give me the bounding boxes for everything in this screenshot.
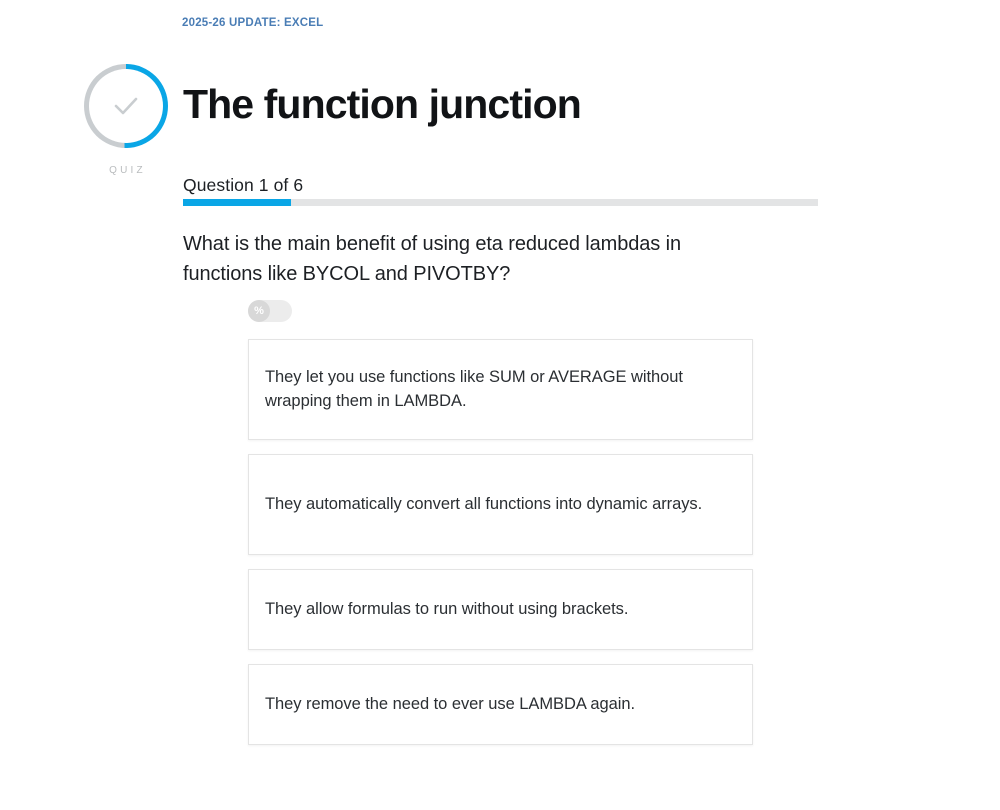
answer-option-label: They automatically convert all functions… — [265, 493, 702, 516]
answer-option-label: They allow formulas to run without using… — [265, 598, 628, 621]
answer-options: They let you use functions like SUM or A… — [248, 339, 753, 759]
page-title: The function junction — [183, 82, 581, 127]
percent-icon: % — [248, 300, 270, 322]
kicker-label: 2025-26 UPDATE: EXCEL — [182, 17, 323, 29]
answer-option-label: They remove the need to ever use LAMBDA … — [265, 693, 635, 716]
quiz-progress-ring — [84, 64, 168, 148]
percent-toggle[interactable]: % — [248, 300, 292, 322]
progress-bar — [183, 199, 818, 206]
answer-option[interactable]: They remove the need to ever use LAMBDA … — [248, 664, 753, 745]
answer-option-label: They let you use functions like SUM or A… — [265, 366, 736, 413]
progress-bar-fill — [183, 199, 291, 206]
question-text: What is the main benefit of using eta re… — [183, 230, 763, 289]
quiz-badge: QUIZ — [84, 64, 168, 176]
answer-option[interactable]: They automatically convert all functions… — [248, 454, 753, 555]
answer-option[interactable]: They allow formulas to run without using… — [248, 569, 753, 650]
checkmark-icon — [84, 64, 168, 148]
quiz-page: 2025-26 UPDATE: EXCEL QUIZ The function … — [0, 0, 1000, 810]
question-counter: Question 1 of 6 — [183, 175, 303, 196]
quiz-badge-label: QUIZ — [84, 165, 168, 176]
answer-option[interactable]: They let you use functions like SUM or A… — [248, 339, 753, 440]
